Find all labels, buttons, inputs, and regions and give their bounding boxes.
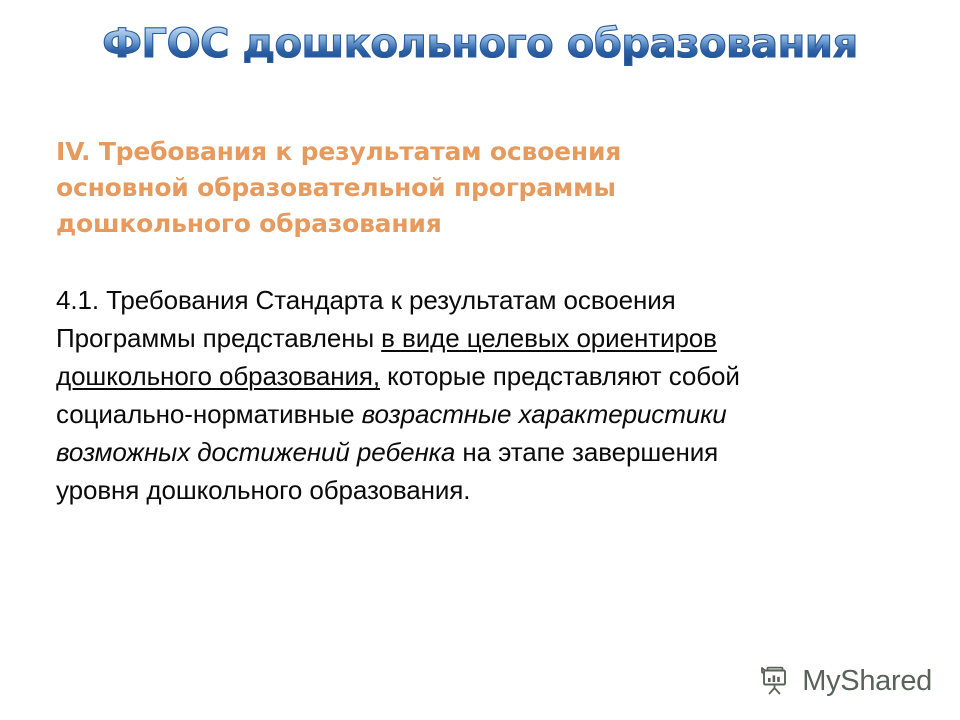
body-line-3-text: которые представляют собой xyxy=(380,361,740,391)
body-line-1-text: 4.1. Требования Стандарта к результатам … xyxy=(56,285,676,315)
body-line-1: 4.1. Требования Стандарта к результатам … xyxy=(56,281,916,319)
body-line-5: возможных достижений ребенка на этапе за… xyxy=(56,433,916,471)
page-title: ФГОС дошкольного образования xyxy=(102,18,858,70)
section-heading-line-1: IV. Требования к результатам освоения xyxy=(56,134,856,170)
body-line-5-text: на этапе завершения xyxy=(455,437,718,467)
body-line-2: Программы представлены в виде целевых ор… xyxy=(56,319,916,357)
section-heading-line-2: основной образовательной программы xyxy=(56,170,856,206)
body-line-4-text: социально-нормативные xyxy=(56,399,362,429)
body-line-4: социально-нормативные возрастные характе… xyxy=(56,395,916,433)
section-heading-line-3: дошкольного образования xyxy=(56,206,856,242)
slide-title-container: ФГОС дошкольного образования xyxy=(0,18,960,78)
myshared-watermark: MyShared xyxy=(759,664,932,698)
body-line-2-text: Программы представлены xyxy=(56,323,381,353)
body-line-6: уровня дошкольного образования. xyxy=(56,471,916,509)
body-line-2-underlined: в виде целевых ориентиров xyxy=(381,323,717,353)
myshared-watermark-label: MyShared xyxy=(802,667,932,696)
body-line-6-text: уровня дошкольного образования. xyxy=(56,475,470,505)
body-line-3: дошкольного образования, которые предста… xyxy=(56,357,916,395)
body-line-3-underlined: дошкольного образования, xyxy=(56,361,380,391)
body-paragraph: 4.1. Требования Стандарта к результатам … xyxy=(56,281,916,509)
presentation-easel-chart-icon xyxy=(759,664,793,698)
body-line-4-italic: возрастные характеристики xyxy=(362,399,727,429)
body-line-5-italic: возможных достижений ребенка xyxy=(56,437,455,467)
section-heading: IV. Требования к результатам освоения ос… xyxy=(56,134,856,242)
slide-canvas: ФГОС дошкольного образования IV. Требова… xyxy=(0,0,960,720)
